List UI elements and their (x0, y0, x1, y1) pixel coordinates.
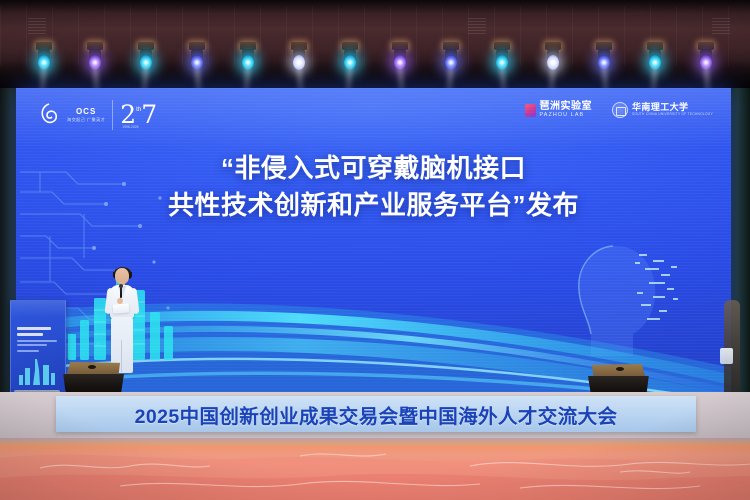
stage-light-fixture (440, 42, 462, 82)
stage-light-fixture (389, 42, 411, 82)
stage-light-fixture (237, 42, 259, 82)
ocs-slogan: 海交起己 广聚英才 (67, 118, 105, 122)
standee-sub-line (17, 344, 47, 346)
presenter-cue-card (113, 303, 130, 313)
stage-light-fixture (542, 42, 564, 82)
ocs-wordmark: OCS 海交起己 广聚英才 (67, 108, 105, 122)
scut-seal-icon (612, 102, 628, 118)
carpet-front-edge (0, 438, 750, 445)
headline-line-2: 共性技术创新和产业服务平台”发布 (56, 187, 691, 224)
ocs-emblem-icon (38, 102, 60, 128)
logo-divider (112, 100, 113, 130)
stage-light-fixture (339, 42, 361, 82)
standee-title-line (17, 327, 51, 330)
standee-skyline-icon (17, 359, 59, 385)
stage-light-fixture (33, 42, 55, 82)
monitor-body (62, 374, 124, 394)
standee-title-line (17, 333, 43, 336)
stage-front-banner: 2025中国创新创业成果交易会暨中国海外人才交流大会 (56, 396, 696, 432)
pazhou-lab-logo: 琶洲实验室 PAZHOU LAB (525, 102, 593, 118)
pazhou-mark-icon (525, 104, 536, 117)
ocs-logo-group: OCS 海交起己 广聚英才 2 th 7 1998-2025 (38, 100, 157, 130)
stage-monitor-speaker (62, 362, 124, 394)
stage-apron-right (694, 392, 750, 440)
stage-light-fixture (491, 42, 513, 82)
stage-light-fixture (695, 42, 717, 82)
standee-header (11, 301, 65, 317)
partner-logos-group: 琶洲实验室 PAZHOU LAB 华南理工大学 SOUTH CHINA UNIV… (525, 102, 714, 118)
ceiling-vent-icon (712, 18, 730, 34)
ceiling-vent-icon (468, 18, 486, 34)
host-presenter (104, 268, 140, 376)
standee-sub-line (17, 340, 57, 342)
pazhou-name-en: PAZHOU LAB (540, 113, 593, 119)
conference-stage-photo: OCS 海交起己 广聚英才 2 th 7 1998-2025 琶洲实验室 PAZ… (0, 0, 750, 500)
stage-light-fixture (644, 42, 666, 82)
ceiling-vent-icon (28, 18, 46, 34)
anniversary-number: 2 (120, 104, 136, 125)
standee-sub-line (17, 350, 39, 352)
pazhou-name-cn: 琶洲实验室 (540, 102, 593, 113)
stage-light-fixture (84, 42, 106, 82)
stage-apron-left (0, 392, 58, 440)
stage-light-fixture (593, 42, 615, 82)
anniversary-mark: 2 th 7 1998-2025 (120, 104, 157, 125)
ocs-abbr: OCS (76, 108, 96, 116)
headline-line-1: “非侵入式可穿戴脑机接口 (221, 153, 526, 183)
stage-light-fixture (135, 42, 157, 82)
led-headline: “非侵入式可穿戴脑机接口 共性技术创新和产业服务平台”发布 (16, 150, 731, 224)
monitor-handle-icon (88, 365, 96, 369)
event-standee-poster (10, 300, 66, 394)
microphone-icon (120, 286, 123, 298)
stage-light-fixture (288, 42, 310, 82)
anniversary-years: 1998-2025 (122, 125, 138, 129)
side-sign-panel (720, 348, 733, 364)
scut-name-en: SOUTH CHINA UNIVERSITY OF TECHNOLOGY (632, 113, 713, 117)
monitor-handle-icon (616, 367, 624, 371)
anniversary-number2: 7 (141, 104, 157, 125)
scut-logo: 华南理工大学 SOUTH CHINA UNIVERSITY OF TECHNOL… (612, 102, 713, 118)
floor-carpet (0, 438, 750, 500)
banner-text: 2025中国创新创业成果交易会暨中国海外人才交流大会 (135, 400, 618, 429)
stage-light-fixture (186, 42, 208, 82)
